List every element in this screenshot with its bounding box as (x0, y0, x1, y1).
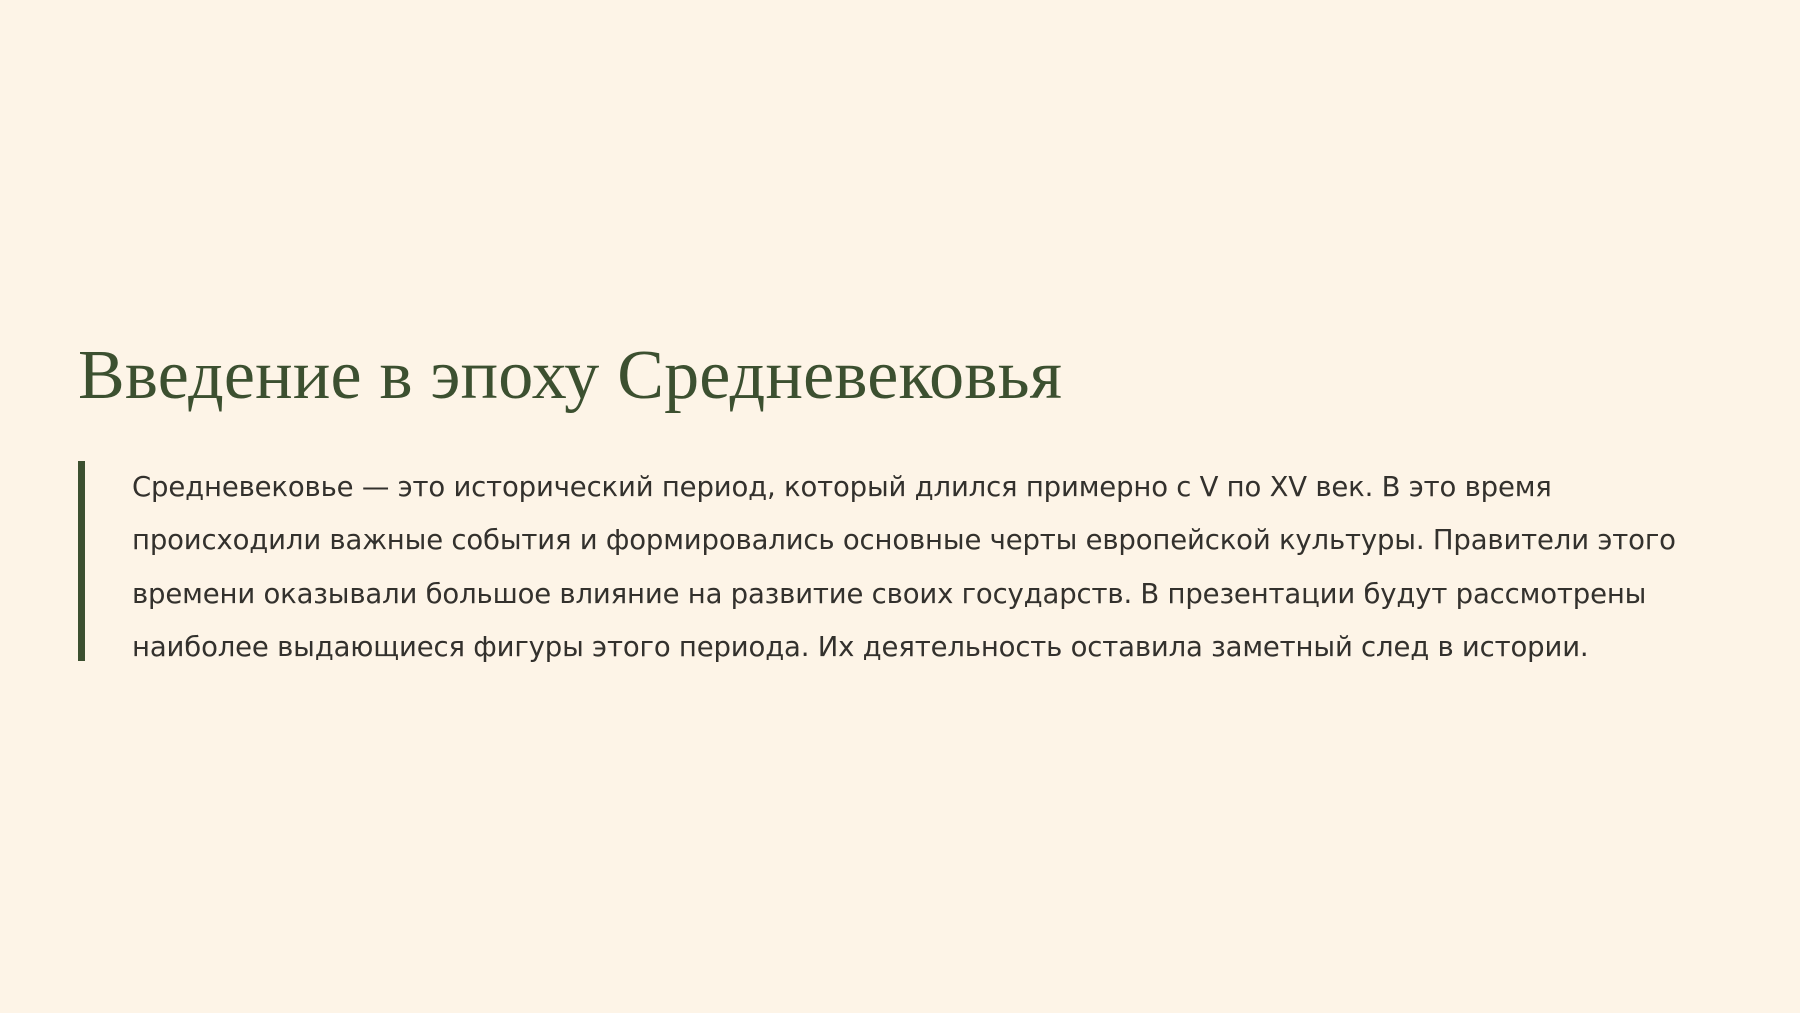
page-title: Введение в эпоху Средневековья (78, 340, 1738, 413)
body-block: Средневековье — это исторический период,… (78, 461, 1738, 675)
slide-canvas: Введение в эпоху Средневековья Средневек… (0, 0, 1800, 1013)
slide-content: Введение в эпоху Средневековья Средневек… (78, 340, 1738, 675)
intro-paragraph: Средневековье — это исторический период,… (132, 461, 1738, 675)
accent-bar (78, 461, 85, 661)
